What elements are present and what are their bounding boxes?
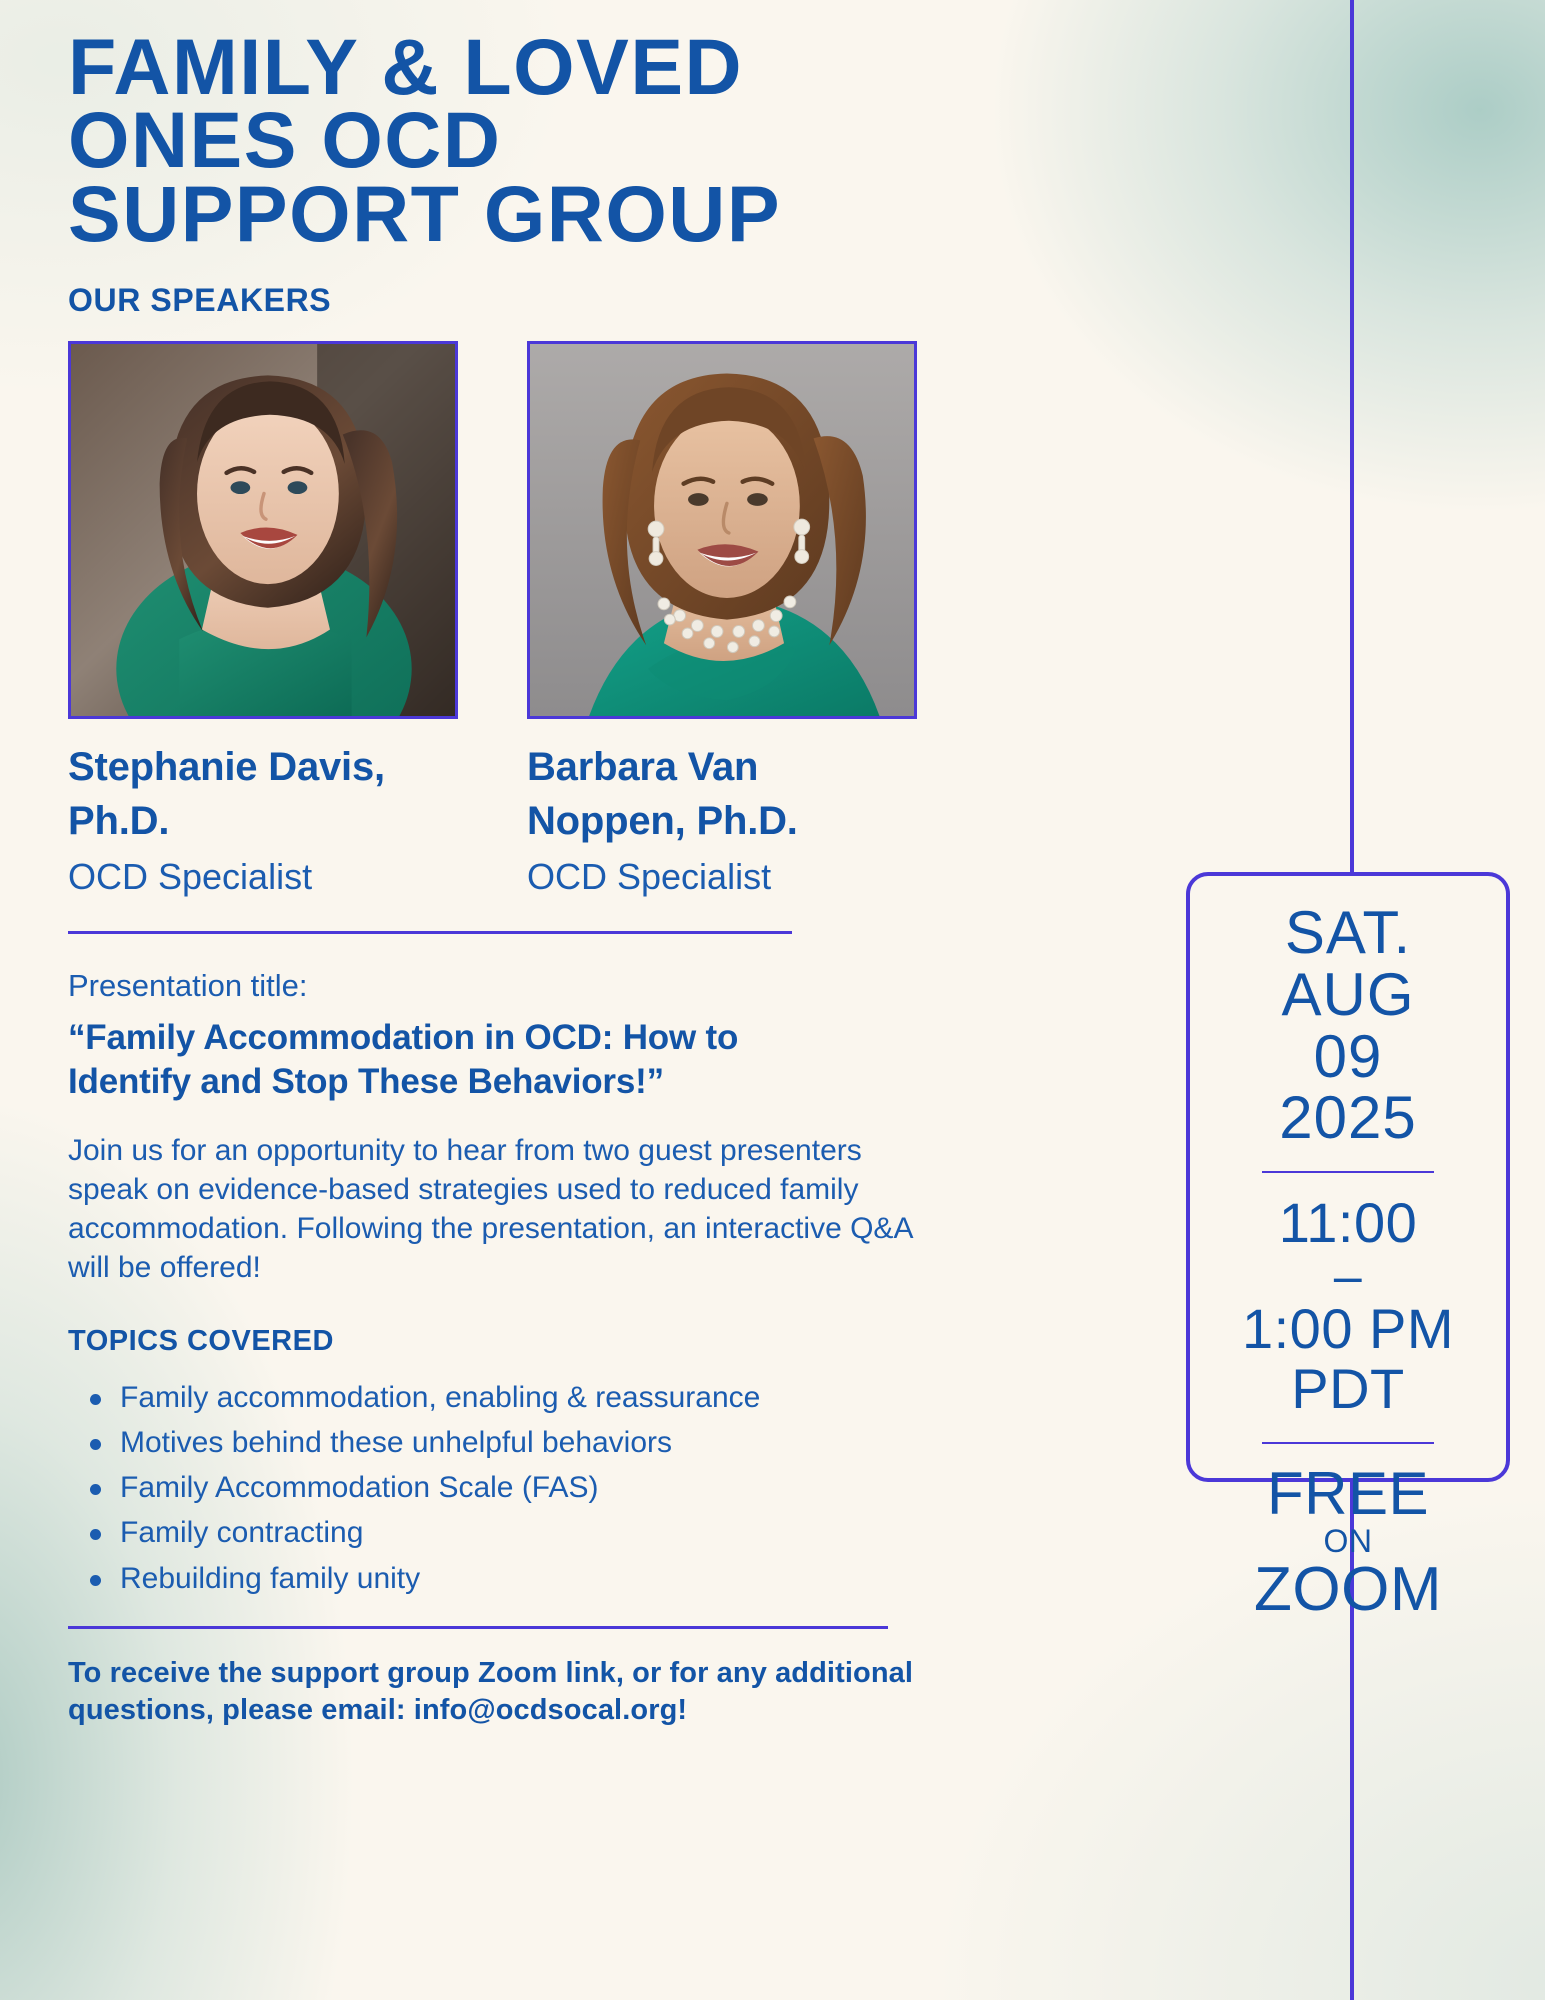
divider-above-footer	[68, 1626, 888, 1629]
presentation-blurb: Join us for an opportunity to hear from …	[68, 1132, 923, 1287]
page-title: FAMILY & LOVED ONES OCD SUPPORT GROUP	[68, 30, 968, 250]
event-date-month: AUG	[1204, 964, 1492, 1026]
event-date-weekday: SAT.	[1204, 902, 1492, 964]
title-line-2: ONES OCD	[68, 103, 968, 176]
list-item: Family accommodation, enabling & reassur…	[120, 1380, 968, 1415]
list-item: Family contracting	[120, 1515, 968, 1550]
speaker-photo-stephanie-davis	[68, 341, 458, 719]
speaker-card-1: Stephanie Davis, Ph.D. OCD Specialist	[68, 341, 458, 900]
speaker-role-1: OCD Specialist	[68, 854, 458, 901]
event-time-dash: –	[1204, 1254, 1492, 1299]
speaker-name-1: Stephanie Davis, Ph.D.	[68, 741, 458, 847]
contact-note: To receive the support group Zoom link, …	[68, 1655, 928, 1730]
event-price: FREE	[1204, 1464, 1492, 1524]
infobox-separator-2	[1262, 1442, 1434, 1444]
presentation-label: Presentation title:	[68, 968, 968, 1004]
event-details-box: SAT. AUG 09 2025 11:00 – 1:00 PM PDT FRE…	[1186, 872, 1510, 1482]
event-time-end: 1:00 PM	[1204, 1299, 1492, 1359]
speakers-heading: OUR SPEAKERS	[68, 282, 968, 319]
list-item: Motives behind these unhelpful behaviors	[120, 1425, 968, 1460]
title-line-1: FAMILY & LOVED	[68, 30, 968, 103]
speaker-card-2: Barbara Van Noppen, Ph.D. OCD Specialist	[527, 341, 917, 900]
event-time-start: 11:00	[1204, 1193, 1492, 1253]
title-line-3: SUPPORT GROUP	[68, 177, 968, 250]
topics-list: Family accommodation, enabling & reassur…	[68, 1380, 968, 1595]
event-date-day: 09	[1204, 1026, 1492, 1088]
speakers-list: Stephanie Davis, Ph.D. OCD Specialist	[68, 341, 968, 900]
event-date: SAT. AUG 09 2025	[1204, 902, 1492, 1149]
list-item: Family Accommodation Scale (FAS)	[120, 1470, 968, 1505]
speaker-name-2: Barbara Van Noppen, Ph.D.	[527, 741, 917, 847]
event-on-word: ON	[1204, 1524, 1492, 1559]
main-content-column: FAMILY & LOVED ONES OCD SUPPORT GROUP OU…	[68, 0, 968, 1730]
event-timezone: PDT	[1204, 1359, 1492, 1419]
list-item: Rebuilding family unity	[120, 1561, 968, 1596]
event-time: 11:00 – 1:00 PM PDT	[1204, 1193, 1492, 1419]
infobox-separator-1	[1262, 1171, 1434, 1173]
speaker-photo-barbara-van-noppen	[527, 341, 917, 719]
divider-above-presentation	[68, 931, 792, 934]
event-price-block: FREE ON ZOOM	[1204, 1464, 1492, 1621]
topics-heading: TOPICS COVERED	[68, 1325, 968, 1358]
poster-canvas: FAMILY & LOVED ONES OCD SUPPORT GROUP OU…	[0, 0, 1545, 2000]
event-platform: ZOOM	[1204, 1559, 1492, 1621]
event-date-year: 2025	[1204, 1087, 1492, 1149]
speaker-role-2: OCD Specialist	[527, 854, 917, 901]
presentation-title: “Family Accommodation in OCD: How to Ide…	[68, 1016, 868, 1105]
